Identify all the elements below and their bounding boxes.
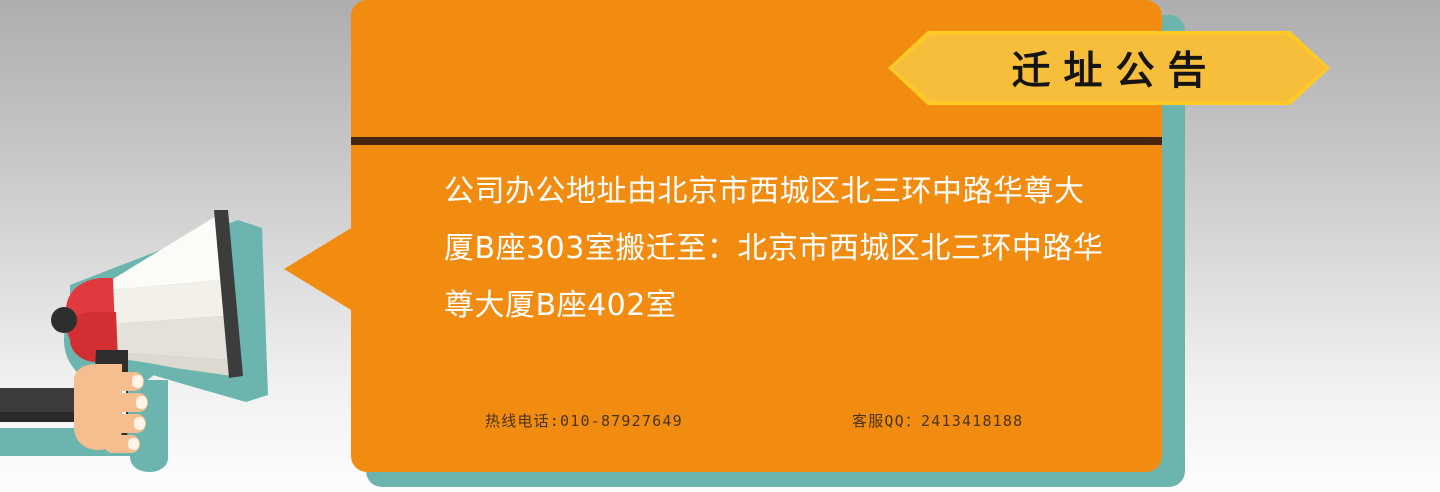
announcement-body-text: 公司办公地址由北京市西城区北三环中路华尊大厦B座303室搬迁至：北京市西城区北三… — [444, 163, 1104, 334]
announcement-banner-canvas: 迁址公告 公司办公地址由北京市西城区北三环中路华尊大厦B座303室搬迁至：北京市… — [0, 0, 1440, 492]
page-title: 迁址公告 — [888, 31, 1330, 105]
footer-contacts: 热线电话:010-87927649 客服QQ：2413418188 — [351, 410, 1162, 436]
contact-qq: 客服QQ：2413418188 — [852, 410, 1023, 431]
title-banner: 迁址公告 — [888, 31, 1330, 105]
contact-hotline: 热线电话:010-87927649 — [485, 410, 683, 431]
announcement-card: 迁址公告 公司办公地址由北京市西城区北三环中路华尊大厦B座303室搬迁至：北京市… — [351, 0, 1162, 472]
speech-bubble-tail — [284, 225, 356, 313]
title-divider — [351, 137, 1162, 145]
